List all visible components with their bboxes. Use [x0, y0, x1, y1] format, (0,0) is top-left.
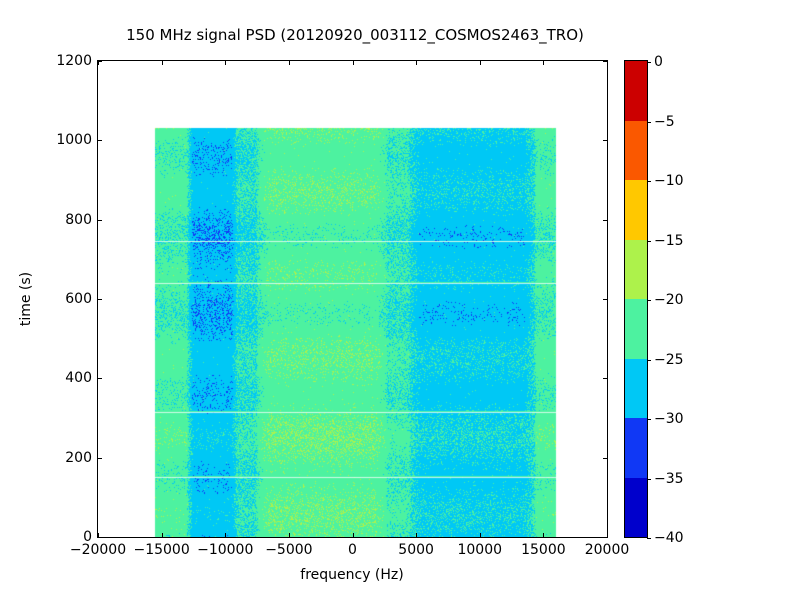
figure-canvas: 150 MHz signal PSD (20120920_003112_COSM…	[0, 0, 800, 600]
x-axis-tick	[98, 533, 99, 537]
y-axis-tick	[98, 537, 102, 538]
x-axis-tick	[225, 533, 226, 537]
y-axis-tick-label: 1200	[56, 53, 92, 69]
colorbar-tick-label: −40	[654, 530, 684, 546]
y-axis-tick-right	[603, 458, 607, 459]
x-axis-tick-top	[162, 61, 163, 65]
colorbar-tick-label: −25	[654, 352, 684, 368]
colorbar-tick-label: −30	[654, 411, 684, 427]
colorbar-tick-label: −20	[654, 292, 684, 308]
x-axis-tick-label: 20000	[585, 542, 630, 558]
y-axis-tick	[98, 140, 102, 141]
colorbar-band	[625, 180, 647, 240]
x-axis-tick-top	[480, 61, 481, 65]
y-axis-tick-label: 200	[65, 450, 92, 466]
x-axis-tick-label: 10000	[457, 542, 502, 558]
colorbar-tick-label: −5	[654, 114, 675, 130]
colorbar: −40−35−30−25−20−15−10−50	[624, 60, 648, 538]
x-axis-tick	[480, 533, 481, 537]
y-axis-tick-label: 1000	[56, 132, 92, 148]
x-axis-tick	[289, 533, 290, 537]
colorbar-band	[625, 121, 647, 181]
colorbar-band	[625, 418, 647, 478]
colorbar-tick	[647, 479, 651, 480]
colorbar-tick	[647, 181, 651, 182]
y-axis-tick-right	[603, 537, 607, 538]
y-axis-tick-right	[603, 220, 607, 221]
colorbar-tick	[647, 419, 651, 420]
x-axis-tick	[416, 533, 417, 537]
colorbar-band	[625, 299, 647, 359]
x-axis-tick-label: 0	[348, 542, 357, 558]
spectrogram-axes: 020040060080010001200−20000−15000−10000−…	[97, 60, 608, 538]
y-axis-tick-right	[603, 378, 607, 379]
y-axis-tick-label: 800	[65, 212, 92, 228]
colorbar-tick	[647, 360, 651, 361]
x-axis-tick-label: 5000	[398, 542, 434, 558]
y-axis-label: time (s)	[18, 272, 34, 326]
x-axis-tick	[353, 533, 354, 537]
spectrogram-image	[98, 61, 607, 537]
colorbar-tick-label: −15	[654, 233, 684, 249]
x-axis-tick-top	[543, 61, 544, 65]
x-axis-tick-top	[607, 61, 608, 65]
x-axis-tick-label: −15000	[133, 542, 189, 558]
colorbar-tick-label: 0	[654, 54, 663, 70]
colorbar-band	[625, 61, 647, 121]
y-axis-tick	[98, 458, 102, 459]
colorbar-band	[625, 240, 647, 300]
colorbar-band	[625, 478, 647, 538]
x-axis-label: frequency (Hz)	[300, 567, 403, 583]
x-axis-tick-top	[416, 61, 417, 65]
x-axis-tick-top	[353, 61, 354, 65]
y-axis-tick-label: 400	[65, 370, 92, 386]
y-axis-tick-right	[603, 299, 607, 300]
colorbar-tick	[647, 538, 651, 539]
x-axis-tick-label: 15000	[521, 542, 566, 558]
y-axis-tick-label: 600	[65, 291, 92, 307]
x-axis-tick	[543, 533, 544, 537]
y-axis-tick	[98, 220, 102, 221]
x-axis-tick-label: −10000	[197, 542, 253, 558]
colorbar-tick	[647, 241, 651, 242]
colorbar-tick-label: −10	[654, 173, 684, 189]
y-axis-tick-right	[603, 140, 607, 141]
x-axis-tick-label: −20000	[70, 542, 126, 558]
colorbar-tick-label: −35	[654, 471, 684, 487]
y-axis-tick	[98, 299, 102, 300]
x-axis-tick	[607, 533, 608, 537]
x-axis-tick-label: −5000	[265, 542, 312, 558]
x-axis-tick-top	[225, 61, 226, 65]
plot-title: 150 MHz signal PSD (20120920_003112_COSM…	[0, 26, 710, 44]
colorbar-band	[625, 359, 647, 419]
x-axis-tick-top	[98, 61, 99, 65]
colorbar-tick	[647, 300, 651, 301]
x-axis-tick-top	[289, 61, 290, 65]
x-axis-tick	[162, 533, 163, 537]
y-axis-tick	[98, 378, 102, 379]
colorbar-tick	[647, 122, 651, 123]
colorbar-tick	[647, 62, 651, 63]
